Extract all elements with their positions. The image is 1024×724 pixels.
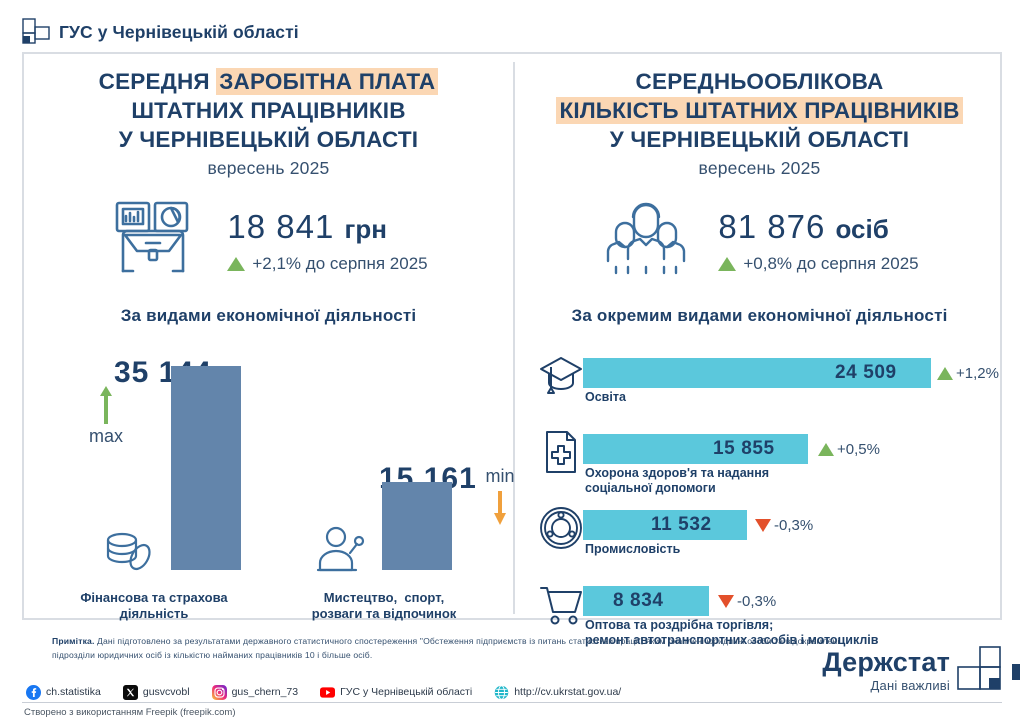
hbar-row-3: 11 532 -0,3% Промисловість	[515, 502, 1004, 578]
hbar-label-3: Промисловість	[585, 542, 680, 557]
hbar-change-2: +0,5%	[818, 434, 880, 464]
hbar-value-2: 15 855	[713, 434, 775, 464]
right-kpi-value-row: 81 876 осіб	[718, 210, 918, 243]
footnote-label: Примітка.	[52, 636, 94, 646]
globe-icon	[494, 685, 509, 700]
triangle-down-icon	[755, 519, 771, 532]
left-title-line-2: ШТАТНИХ ПРАЦІВНИКІВ	[24, 97, 513, 126]
social-facebook[interactable]: ch.statistika	[26, 685, 101, 700]
hbar-value-1: 24 509	[835, 358, 897, 388]
left-title-line-1: СЕРЕДНЯ ЗАРОБІТНА ПЛАТА	[24, 68, 513, 97]
vbar-label-1-l2: діяльність	[120, 606, 189, 621]
briefcase-chart-icon	[109, 197, 201, 286]
right-section-title: За окремим видами економічної діяльності	[515, 306, 1004, 326]
left-subtitle: вересень 2025	[24, 158, 513, 179]
vbar-group-1: 35 144 -1,8%	[24, 344, 284, 622]
hbar-change-4: -0,3%	[718, 586, 776, 616]
social-x-label: gusvcvobl	[143, 686, 190, 698]
panel-salary: СЕРЕДНЯ ЗАРОБІТНА ПЛАТА ШТАТНИХ ПРАЦІВНИ…	[24, 54, 513, 618]
social-website[interactable]: http://cv.ukrstat.gov.ua/	[494, 685, 621, 700]
right-kpi: 81 876 осіб +0,8% до серпня 2025	[515, 197, 1004, 286]
left-section-title: За видами економічної діяльності	[24, 306, 513, 326]
hbar-label-1: Освіта	[585, 390, 626, 405]
page-title: ГУС у Чернівецькій області	[59, 22, 299, 43]
right-kpi-delta: +0,8% до серпня 2025	[718, 254, 918, 274]
triangle-up-icon	[227, 257, 245, 271]
right-kpi-text: 81 876 осіб +0,8% до серпня 2025	[718, 210, 918, 274]
youtube-icon	[320, 685, 335, 700]
hbar-row-1: 24 509 +1,2% Освіта	[515, 350, 1004, 426]
right-title-line-3: У ЧЕРНІВЕЦЬКІЙ ОБЛАСТІ	[515, 126, 1004, 155]
left-kpi-delta: +2,1% до серпня 2025	[227, 254, 427, 274]
social-instagram-label: gus_chern_73	[232, 686, 299, 698]
content-frame: СЕРЕДНЯ ЗАРОБІТНА ПЛАТА ШТАТНИХ ПРАЦІВНИ…	[22, 52, 1002, 620]
triangle-up-icon	[818, 443, 834, 456]
social-youtube-label: ГУС у Чернівецькій області	[340, 686, 472, 698]
social-bar: ch.statistika gusvcvobl	[0, 680, 1024, 704]
hbar-change-3-text: -0,3%	[774, 517, 813, 534]
left-title-block: СЕРЕДНЯ ЗАРОБІТНА ПЛАТА ШТАТНИХ ПРАЦІВНИ…	[24, 54, 513, 179]
horizontal-bar-chart: 24 509 +1,2% Освіта	[515, 350, 1004, 654]
left-title-plain: СЕРЕДНЯ	[99, 69, 217, 94]
vbar-bar-2	[382, 482, 452, 570]
left-kpi-value: 18 841	[227, 208, 334, 245]
derzhstat-squares-logo-icon	[22, 18, 50, 46]
vbar-label-1: Фінансова та страхова діяльність	[24, 590, 284, 623]
hbar-change-1: +1,2%	[937, 358, 999, 388]
social-instagram[interactable]: gus_chern_73	[212, 685, 299, 700]
page-header: ГУС у Чернівецькій області	[22, 18, 299, 46]
vbar-bar-1	[171, 366, 241, 570]
right-title-highlight: КІЛЬКІСТЬ ШТАТНИХ ПРАЦІВНИКІВ	[556, 97, 962, 124]
left-kpi-unit: грн	[344, 214, 386, 244]
left-title-line-3: У ЧЕРНІВЕЦЬКІЙ ОБЛАСТІ	[24, 126, 513, 155]
right-title-line-2: КІЛЬКІСТЬ ШТАТНИХ ПРАЦІВНИКІВ	[515, 97, 1004, 126]
vbar-group-2: 15 161 -1,0%	[284, 344, 484, 622]
edge-accent-mark	[1012, 664, 1020, 680]
instagram-icon	[212, 685, 227, 700]
social-x[interactable]: gusvcvobl	[123, 685, 190, 700]
x-twitter-icon	[123, 685, 138, 700]
panel-headcount: СЕРЕДНЬООБЛІКОВА КІЛЬКІСТЬ ШТАТНИХ ПРАЦІ…	[515, 54, 1004, 618]
left-title-highlight: ЗАРОБІТНА ПЛАТА	[216, 68, 438, 95]
vbar-label-2: Мистецтво, спорт, розваги та відпочинок	[284, 590, 484, 623]
vbar-label-1-l1: Фінансова та страхова	[80, 590, 227, 605]
credit-text: Створено з використанням Freepik (freepi…	[24, 707, 236, 718]
people-group-icon	[600, 197, 692, 286]
hbar-value-3: 11 532	[651, 510, 712, 540]
social-facebook-label: ch.statistika	[46, 686, 101, 698]
vbar-label-2-l2: розваги та відпочинок	[312, 606, 457, 621]
hbar-label-2: Охорона здоров'я та наданнясоціальної до…	[585, 466, 769, 496]
right-subtitle: вересень 2025	[515, 158, 1004, 179]
hbar-row-2: 15 855 +0,5% Охорона здоров'я та надання…	[515, 426, 1004, 502]
triangle-up-icon	[718, 257, 736, 271]
hbar-change-3: -0,3%	[755, 510, 813, 540]
social-youtube[interactable]: ГУС у Чернівецькій області	[320, 685, 472, 700]
vertical-bar-chart: max min 35 144 -1,8%	[24, 344, 513, 622]
left-kpi-value-row: 18 841 грн	[227, 210, 427, 243]
facebook-icon	[26, 685, 41, 700]
right-title-line-1: СЕРЕДНЬООБЛІКОВА	[515, 68, 1004, 97]
triangle-down-icon	[718, 595, 734, 608]
hbar-change-1-text: +1,2%	[956, 365, 999, 382]
right-kpi-unit: осіб	[835, 214, 888, 244]
social-website-label: http://cv.ukrstat.gov.ua/	[514, 686, 621, 698]
left-kpi: 18 841 грн +2,1% до серпня 2025	[24, 197, 513, 286]
left-kpi-text: 18 841 грн +2,1% до серпня 2025	[227, 210, 427, 274]
left-kpi-delta-text: +2,1% до серпня 2025	[252, 254, 427, 274]
triangle-up-icon	[937, 367, 953, 380]
hbar-change-2-text: +0,5%	[837, 441, 880, 458]
vbar-label-2-l1: Мистецтво, спорт,	[324, 590, 444, 605]
hbar-value-4: 8 834	[613, 586, 664, 616]
right-kpi-delta-text: +0,8% до серпня 2025	[743, 254, 918, 274]
derzhstat-name: Держстат	[822, 649, 950, 676]
footnote: Примітка. Дані підготовлено за результат…	[52, 634, 842, 662]
hbar-change-4-text: -0,3%	[737, 593, 776, 610]
infographic-page: ГУС у Чернівецькій області СЕРЕДНЯ ЗАРОБ…	[0, 0, 1024, 724]
right-kpi-value: 81 876	[718, 208, 825, 245]
right-title-block: СЕРЕДНЬООБЛІКОВА КІЛЬКІСТЬ ШТАТНИХ ПРАЦІ…	[515, 54, 1004, 179]
footer-divider	[22, 702, 1002, 703]
footnote-text: Дані підготовлено за результатами держав…	[52, 636, 839, 660]
